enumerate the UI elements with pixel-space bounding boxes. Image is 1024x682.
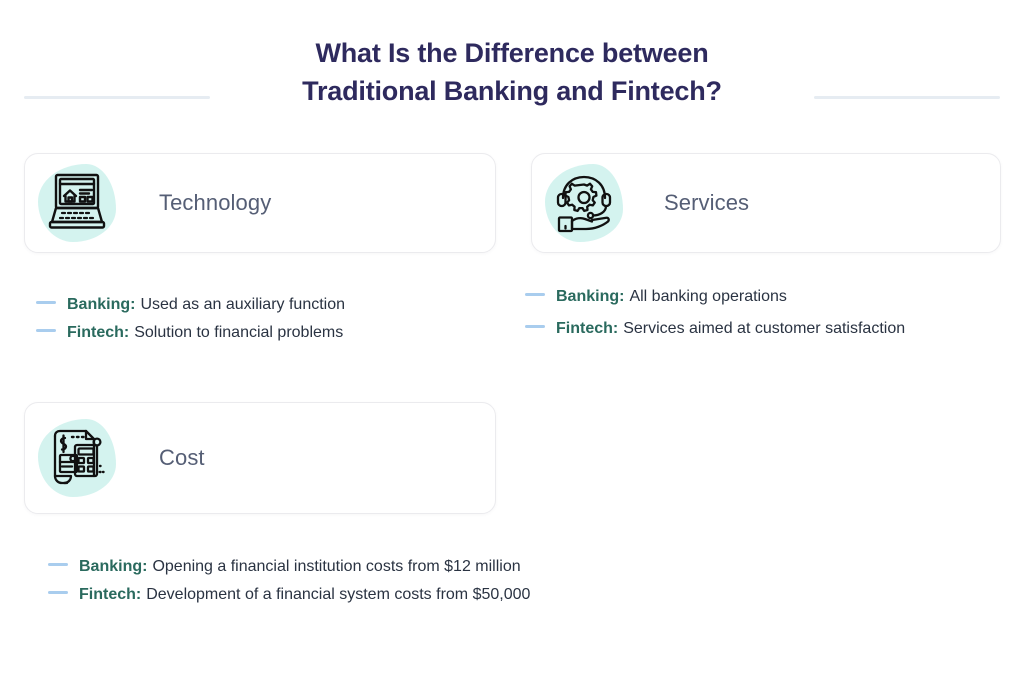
title-rule-left [24,96,210,99]
bullet-item: Banking: Opening a financial institution… [48,558,530,576]
title-rule-right [814,96,1000,99]
bullet-label: Banking: [556,288,624,306]
bullet-item: Banking: Used as an auxiliary function [36,296,345,314]
bullet-group-cost: Banking: Opening a financial institution… [48,558,530,604]
bullet-text: Used as an auxiliary function [140,296,345,314]
card-title-cost: Cost [159,445,205,471]
bullet-label: Fintech: [67,324,129,342]
dash-icon [48,563,68,566]
bullet-group-services: Banking: All banking operations Fintech:… [525,288,905,338]
bullet-text: Services aimed at customer satisfaction [623,320,905,338]
card-technology[interactable]: Technology [24,153,496,253]
bullet-label: Banking: [67,296,135,314]
card-title-technology: Technology [159,190,271,216]
bullet-item: Fintech: Development of a financial syst… [48,586,530,604]
dash-icon [525,325,545,328]
bullet-text: Development of a financial system costs … [146,586,530,604]
page-title-line-2: Traditional Banking and Fintech? [0,72,1024,110]
bullet-text: All banking operations [629,288,786,306]
dash-icon [36,329,56,332]
receipt-calculator-icon [45,426,109,490]
bullet-item: Fintech: Services aimed at customer sati… [525,320,905,338]
bullet-group-technology: Banking: Used as an auxiliary function F… [36,296,345,342]
card-title-services: Services [664,190,749,216]
dash-icon [36,301,56,304]
bullet-item: Fintech: Solution to financial problems [36,324,345,342]
dash-icon [48,591,68,594]
icon-slot-cost [25,403,129,513]
dash-icon [525,293,545,296]
card-services[interactable]: Services [531,153,1001,253]
laptop-bank-icon [44,172,110,234]
bullet-text: Solution to financial problems [134,324,343,342]
card-cost[interactable]: Cost [24,402,496,514]
bullet-label: Fintech: [79,586,141,604]
icon-slot-technology [25,154,129,252]
bullet-text: Opening a financial institution costs fr… [152,558,520,576]
bullet-item: Banking: All banking operations [525,288,905,306]
bullet-label: Banking: [79,558,147,576]
icon-slot-services [532,154,636,252]
page-title-line-1: What Is the Difference between [0,34,1024,72]
bullet-label: Fintech: [556,320,618,338]
hand-gear-headset-icon [551,172,617,234]
